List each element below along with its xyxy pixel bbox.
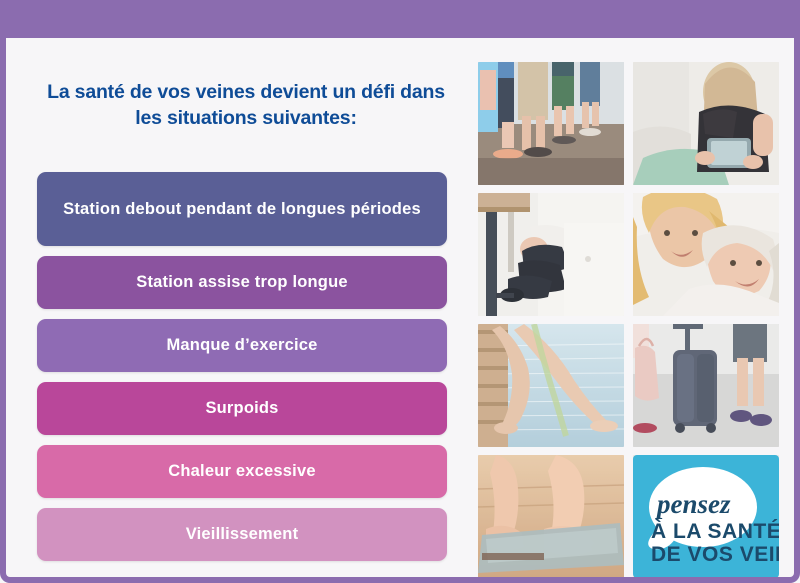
photo-legs-by-the-water	[478, 324, 624, 447]
photo-grid: pensez À LA SANTÉ DE VOS VEINES	[478, 62, 779, 562]
risk-item-standing[interactable]: Station debout pendant de longues périod…	[37, 172, 447, 246]
risk-item-no-exercise[interactable]: Manque d’exercice	[37, 319, 447, 372]
photo-standing-queue-legs	[478, 62, 624, 185]
photo-woman-crossed-legs-desk	[478, 193, 624, 316]
risk-item-label: Manque d’exercice	[166, 333, 317, 358]
risk-item-label: Chaleur excessive	[168, 459, 315, 484]
logo-line-1: pensez	[655, 489, 731, 519]
top-purple-band	[0, 0, 800, 43]
risk-item-heat[interactable]: Chaleur excessive	[37, 445, 447, 498]
risk-item-overweight[interactable]: Surpoids	[37, 382, 447, 435]
photo-two-women-smiling	[633, 193, 779, 316]
photo-woman-sitting-tablet	[633, 62, 779, 185]
risk-item-label: Surpoids	[205, 396, 278, 421]
risk-item-label: Station debout pendant de longues périod…	[63, 197, 421, 222]
poster-card: La santé de vos veines devient un défi d…	[6, 43, 794, 577]
risk-item-sitting[interactable]: Station assise trop longue	[37, 256, 447, 309]
poster: La santé de vos veines devient un défi d…	[0, 0, 800, 583]
risk-item-label: Station assise trop longue	[136, 270, 347, 295]
risk-factor-list: Station debout pendant de longues périod…	[37, 172, 447, 571]
logo-line-2: À LA SANTÉ	[651, 520, 779, 543]
risk-item-ageing[interactable]: Vieillissement	[37, 508, 447, 561]
risk-item-label: Vieillissement	[186, 522, 299, 547]
photo-traveller-with-suitcase	[633, 324, 779, 447]
left-column: La santé de vos veines devient un défi d…	[31, 43, 461, 577]
photo-feet-on-bathroom-scale	[478, 455, 624, 577]
page-title-line-2: les situations suivantes:	[31, 105, 461, 131]
page-title-line-1: La santé de vos veines devient un défi d…	[31, 79, 461, 105]
logo-line-3: DE VOS VEINES	[651, 543, 779, 566]
logo: pensez À LA SANTÉ DE VOS VEINES	[633, 455, 779, 577]
page-title: La santé de vos veines devient un défi d…	[31, 79, 461, 131]
